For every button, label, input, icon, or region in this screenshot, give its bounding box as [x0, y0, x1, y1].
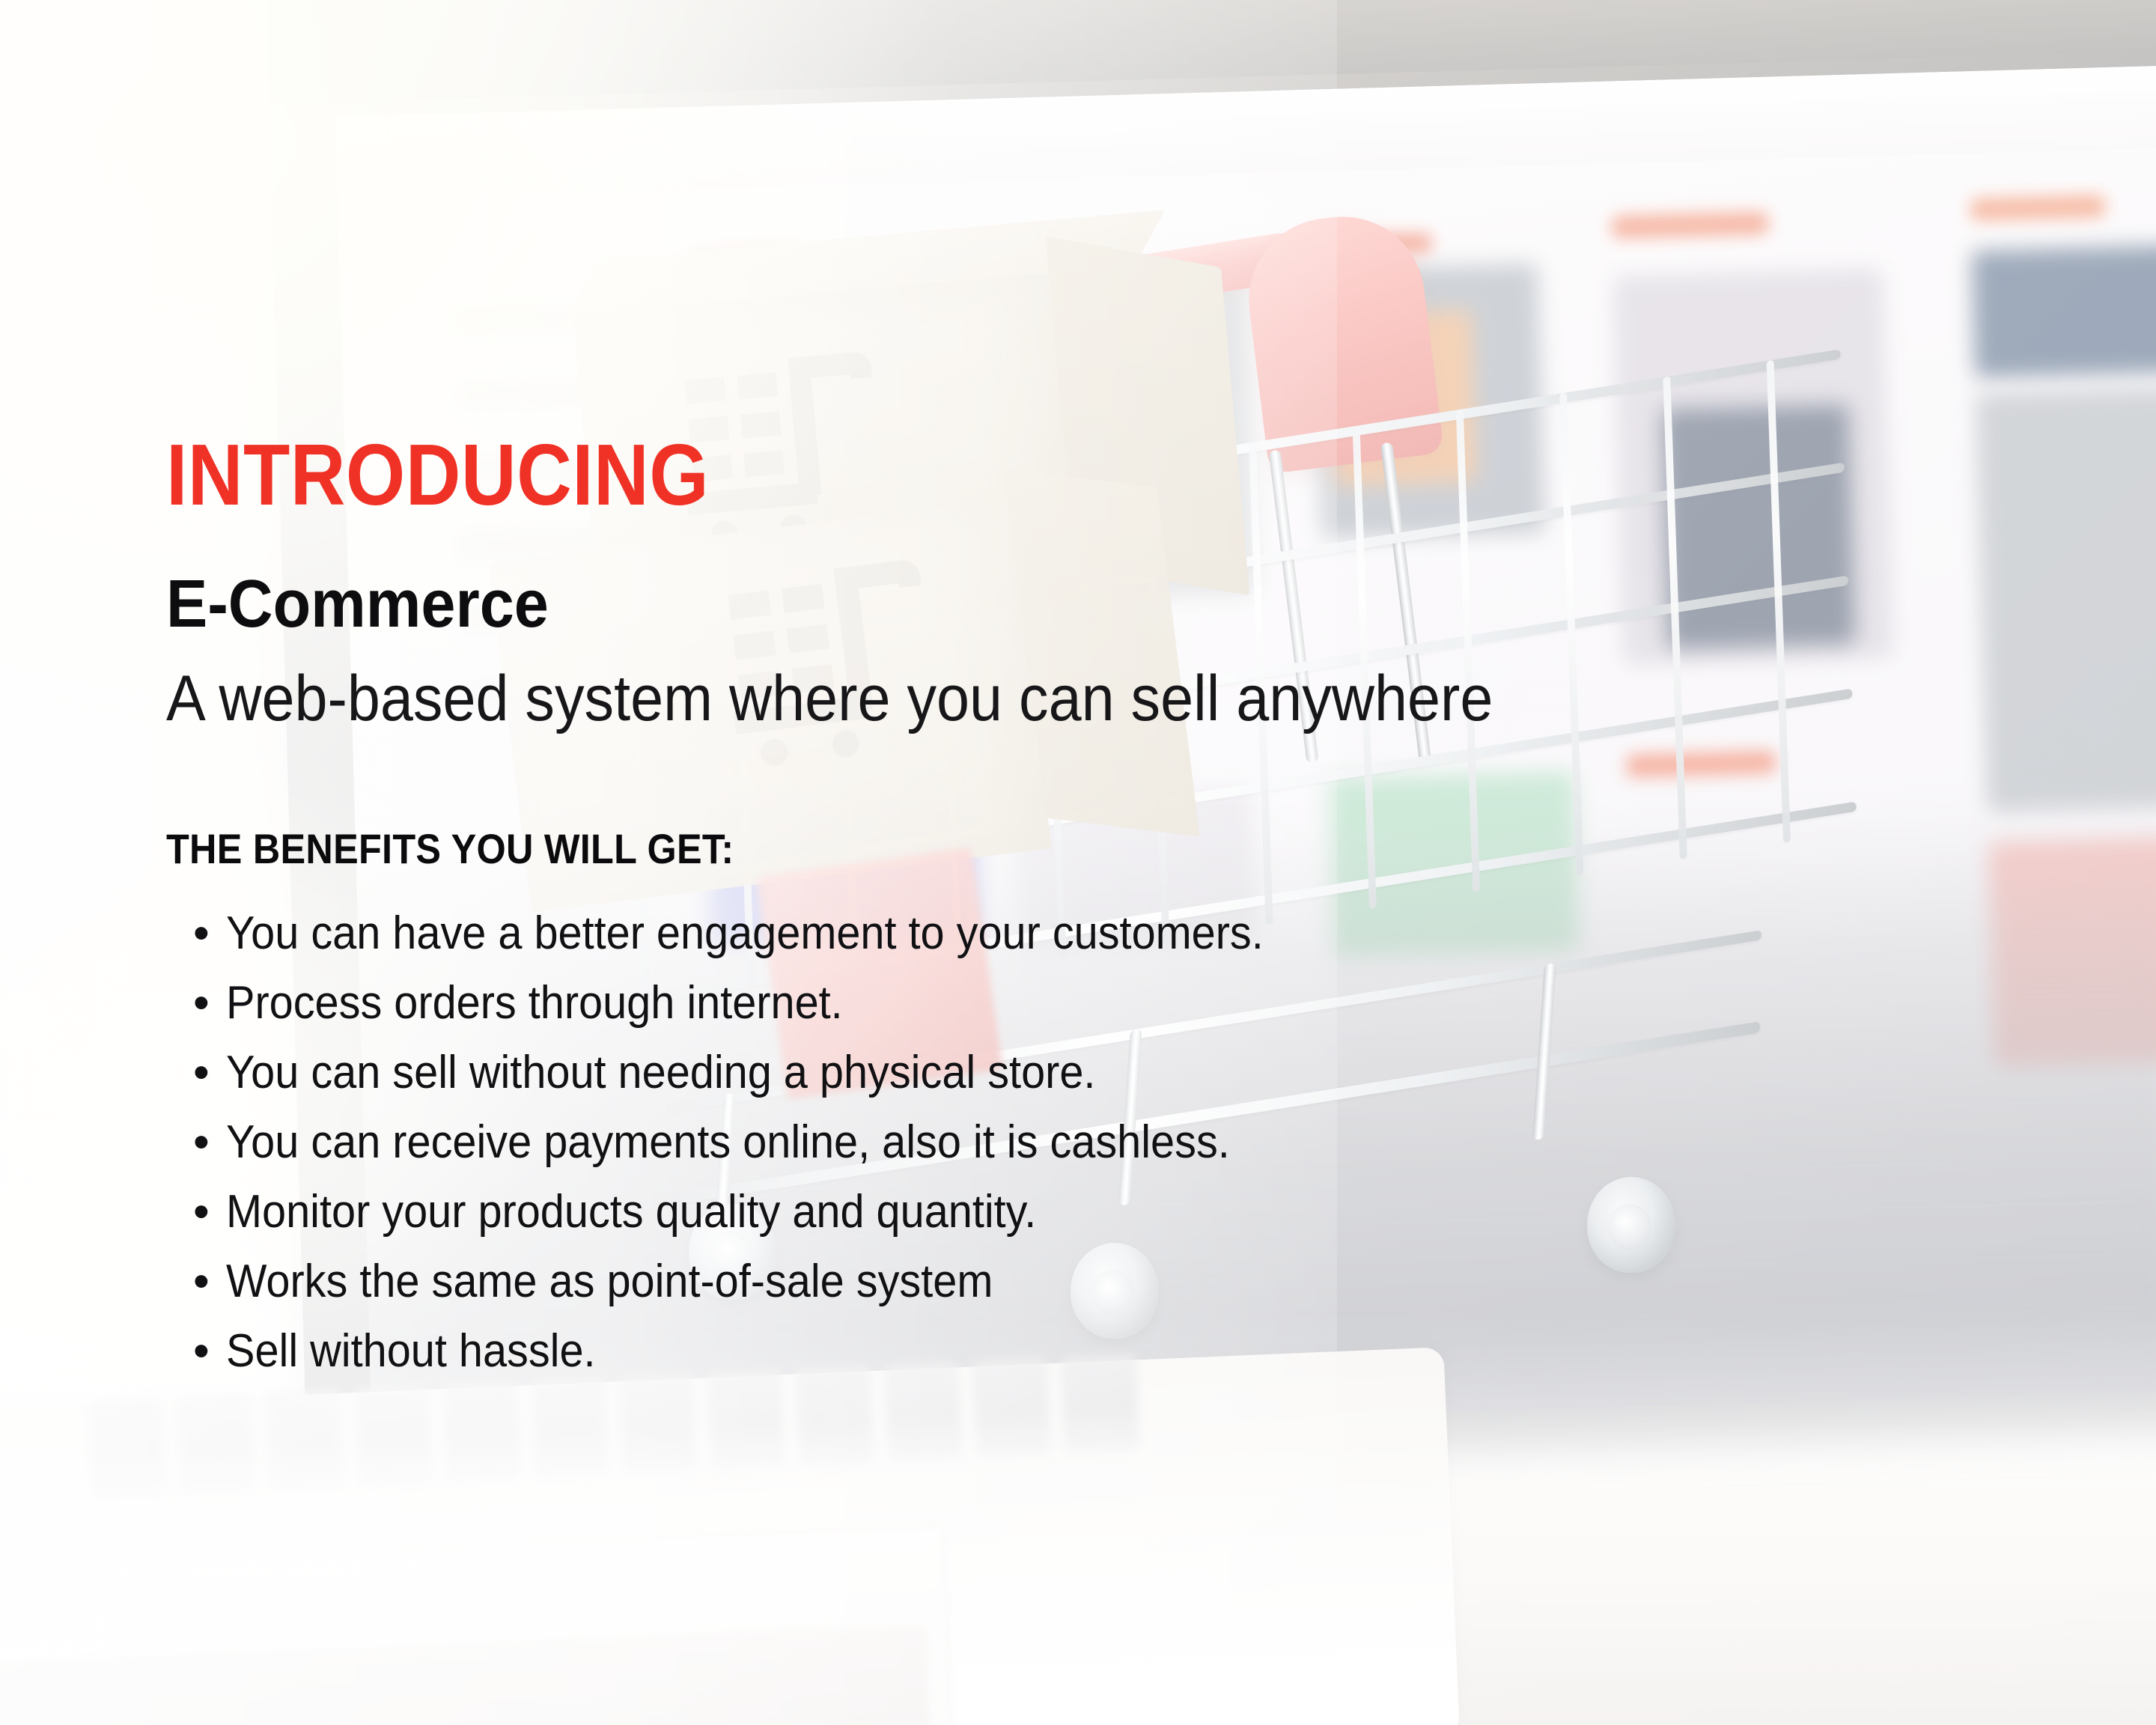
- benefit-item-label: You can sell without needing a physical …: [226, 1050, 1095, 1096]
- bullet-icon: •: [193, 1259, 226, 1305]
- benefit-item-label: Monitor your products quality and quanti…: [226, 1189, 1036, 1235]
- benefit-item-label: Works the same as point-of-sale system: [226, 1259, 993, 1305]
- bullet-icon: •: [193, 1328, 226, 1375]
- bullet-icon: •: [193, 1050, 226, 1096]
- tagline: A web-based system where you can sell an…: [166, 666, 1493, 731]
- benefits-list: •You can have a better engagement to you…: [193, 910, 1342, 1398]
- eyebrow-introducing: INTRODUCING: [166, 431, 709, 518]
- benefit-item: •You can receive payments online, also i…: [193, 1119, 1342, 1166]
- benefit-item-label: You can receive payments online, also it…: [226, 1119, 1230, 1166]
- benefit-item: •You can have a better engagement to you…: [193, 910, 1342, 957]
- benefit-item: •Works the same as point-of-sale system: [193, 1259, 1342, 1305]
- poster-canvas: INTRODUCING E-Commerce A web-based syste…: [0, 0, 2156, 1725]
- poster-text-layer: INTRODUCING E-Commerce A web-based syste…: [0, 0, 2156, 1725]
- benefit-item: •Monitor your products quality and quant…: [193, 1189, 1342, 1235]
- bullet-icon: •: [193, 1119, 226, 1166]
- benefit-item-label: Process orders through internet.: [226, 980, 843, 1026]
- benefit-item-label: You can have a better engagement to your…: [226, 910, 1264, 957]
- page-title: E-Commerce: [166, 571, 549, 638]
- benefits-heading: THE BENEFITS YOU WILL GET:: [166, 828, 734, 870]
- bullet-icon: •: [193, 980, 226, 1026]
- bullet-icon: •: [193, 1189, 226, 1235]
- bullet-icon: •: [193, 910, 226, 957]
- benefit-item: •Sell without hassle.: [193, 1328, 1342, 1375]
- benefit-item: •Process orders through internet.: [193, 980, 1342, 1026]
- benefit-item-label: Sell without hassle.: [226, 1328, 596, 1375]
- benefit-item: •You can sell without needing a physical…: [193, 1050, 1342, 1096]
